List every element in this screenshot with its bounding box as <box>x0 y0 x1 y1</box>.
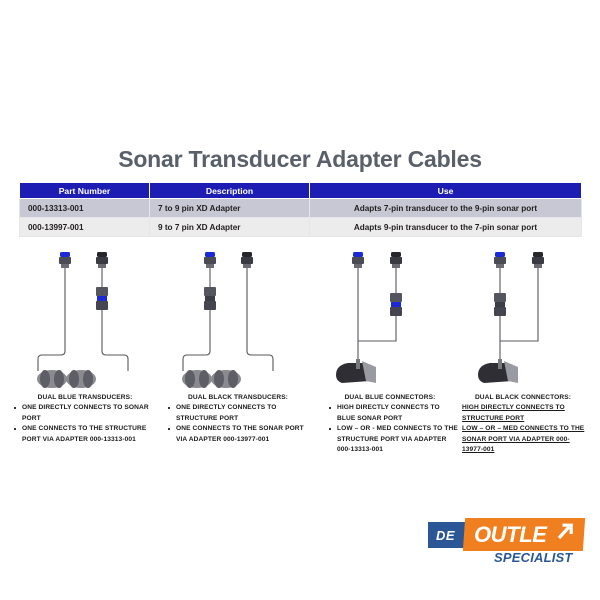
connector-blue <box>59 252 71 268</box>
diagram-dual-blue-transducers <box>18 243 163 391</box>
caption-dual-black-transducers: DUAL BLACK TRANSDUCERS: ONE DIRECTLY CON… <box>166 393 316 445</box>
transducer-bracket-mount <box>478 359 518 383</box>
column-header-description: Description <box>150 183 310 199</box>
connector-black <box>532 252 544 268</box>
adapter-inline-blue <box>390 293 402 316</box>
connector-black <box>241 252 253 268</box>
cell-use: Adapts 9-pin transducer to the 7-pin son… <box>310 218 582 237</box>
connector-blue <box>204 252 216 268</box>
cell-part-number: 000-13997-001 <box>20 218 150 237</box>
caption-dual-blue-transducers: DUAL BLUE TRANSDUCERS: ONE DIRECTLY CONN… <box>12 393 164 445</box>
caption-dual-blue-connectors: DUAL BLUE CONNECTORS: HIGH DIRECTLY CONN… <box>327 393 459 455</box>
caption-dual-black-connectors: DUAL BLACK CONNECTORS: HIGH DIRECTLY CON… <box>462 393 590 455</box>
adapter-cable-table: Part Number Description Use 000-13313-00… <box>19 182 582 237</box>
table-header-row: Part Number Description Use <box>20 183 582 199</box>
caption-line: LOW – OR – MED CONNECTS TO THE SONAR POR… <box>462 424 590 455</box>
page-title: Sonar Transducer Adapter Cables <box>0 146 600 173</box>
diagram-dual-blue-connectors <box>318 243 463 391</box>
logo-de-text: DE <box>436 528 455 543</box>
diagram-dual-black-connectors <box>458 243 600 391</box>
adapter-inline-black <box>204 287 216 310</box>
cell-use: Adapts 7-pin transducer to the 9-pin son… <box>310 199 582 218</box>
caption-heading: DUAL BLACK TRANSDUCERS: <box>166 393 316 403</box>
adapter-inline-black <box>494 293 506 316</box>
caption-line: LOW – OR - MED CONNECTS TO THE STRUCTURE… <box>327 424 459 455</box>
cell-description: 9 to 7 pin XD Adapter <box>150 218 310 237</box>
caption-line: HIGH DIRECTLY CONNECTS TO STRUCTURE PORT <box>462 403 590 424</box>
brand-logo: DE OUTLE SPECIALIST <box>428 518 584 566</box>
column-header-use: Use <box>310 183 582 199</box>
diagram-svg <box>163 243 308 391</box>
caption-heading: DUAL BLACK CONNECTORS: <box>462 393 590 403</box>
diagram-svg <box>318 243 463 391</box>
diagram-svg <box>458 243 600 391</box>
arrow-up-right-icon <box>556 522 574 540</box>
adapter-inline-blue <box>96 287 108 310</box>
caption-line: ONE DIRECTLY CONNECTS TO STRUCTURE PORT <box>166 403 316 424</box>
connector-black <box>96 252 108 268</box>
logo-outlet-text: OUTLE <box>474 522 547 548</box>
caption-heading: DUAL BLUE CONNECTORS: <box>327 393 459 403</box>
cell-part-number: 000-13313-001 <box>20 199 150 218</box>
caption-heading: DUAL BLUE TRANSDUCERS: <box>12 393 164 403</box>
transducer-pods <box>37 370 96 388</box>
caption-line: HIGH DIRECTLY CONNECTS TO BLUE SONAR POR… <box>327 403 459 424</box>
caption-line: ONE DIRECTLY CONNECTS TO SONAR PORT <box>12 403 164 424</box>
table-row: 000-13997-001 9 to 7 pin XD Adapter Adap… <box>20 218 582 237</box>
table-row: 000-13313-001 7 to 9 pin XD Adapter Adap… <box>20 199 582 218</box>
cell-description: 7 to 9 pin XD Adapter <box>150 199 310 218</box>
connector-blue <box>494 252 506 268</box>
diagram-svg <box>18 243 163 391</box>
transducer-bracket-mount <box>336 359 376 383</box>
caption-line: ONE CONNECTS TO THE STRUCTURE PORT VIA A… <box>12 424 164 445</box>
diagram-strip <box>0 243 600 391</box>
transducer-pods <box>182 370 241 388</box>
logo-specialist-text: SPECIALIST <box>494 550 573 565</box>
caption-line: ONE CONNECTS TO THE SONAR PORT VIA ADAPT… <box>166 424 316 445</box>
connector-black <box>390 252 402 268</box>
column-header-part-number: Part Number <box>20 183 150 199</box>
diagram-dual-black-transducers <box>163 243 308 391</box>
connector-blue <box>352 252 364 268</box>
